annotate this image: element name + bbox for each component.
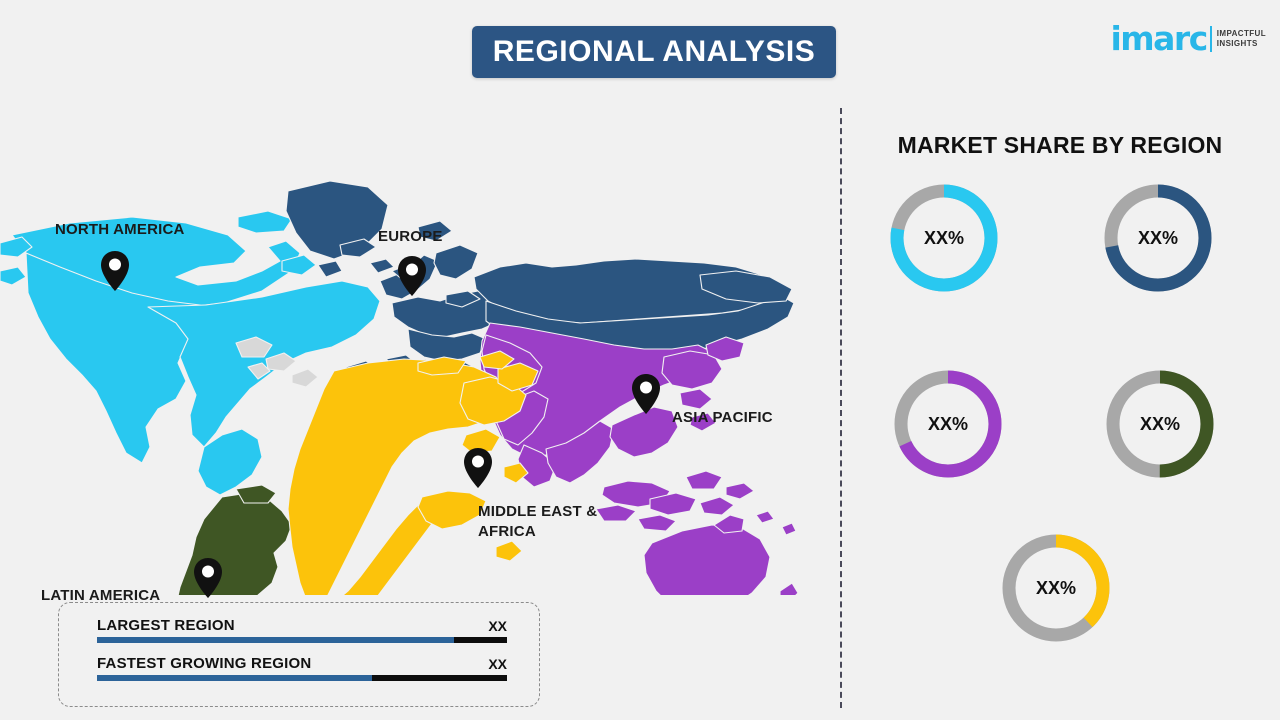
donut-ring: [888, 364, 1008, 484]
map-pin-asia-pacific[interactable]: [630, 373, 662, 415]
logo-tagline-line-2: INSIGHTS: [1217, 39, 1266, 48]
legend-progress-fill: [97, 637, 454, 643]
logo-wordmark: imarc: [1110, 22, 1206, 55]
donut-chart-europe[interactable]: XX%: [1098, 178, 1218, 298]
donut-ring: [1100, 364, 1220, 484]
map-pin-middle-east-africa[interactable]: [462, 447, 494, 489]
map-label-north-america: NORTH AMERICA: [55, 220, 185, 240]
donut-chart-middle-east-africa[interactable]: XX%: [996, 528, 1116, 648]
map-pin-latin-america[interactable]: [192, 557, 224, 599]
legend-box: LARGEST REGION XX FASTEST GROWING REGION…: [58, 602, 540, 707]
world-map-graphic: .ctry { stroke:#f1f1f1; stroke-width:1.1…: [0, 95, 830, 595]
logo-tagline: IMPACTFUL INSIGHTS: [1217, 29, 1266, 48]
donut-ring: [1098, 178, 1218, 298]
donut-ring: [996, 528, 1116, 648]
section-divider: [840, 108, 842, 708]
donut-chart-latin-america[interactable]: XX%: [1100, 364, 1220, 484]
map-label-europe: EUROPE: [378, 227, 443, 247]
page-title-banner: REGIONAL ANALYSIS: [472, 26, 836, 78]
logo-divider-bar: [1210, 26, 1212, 52]
world-map-panel: .ctry { stroke:#f1f1f1; stroke-width:1.1…: [0, 95, 830, 595]
map-region-middle-east-africa: [288, 351, 538, 595]
legend-label: FASTEST GROWING REGION: [97, 655, 311, 672]
legend-row-fastest-growing-region: FASTEST GROWING REGION XX: [97, 655, 507, 681]
legend-value: XX: [488, 618, 507, 634]
map-label-middle-east-africa: MIDDLE EAST & AFRICA: [478, 502, 618, 543]
logo-tagline-line-1: IMPACTFUL: [1217, 29, 1266, 38]
donut-ring: [884, 178, 1004, 298]
map-pin-europe[interactable]: [396, 255, 428, 297]
charts-section-title: MARKET SHARE BY REGION: [840, 132, 1280, 159]
map-pin-north-america[interactable]: [99, 250, 131, 292]
donut-chart-asia-pacific[interactable]: XX%: [888, 364, 1008, 484]
legend-progress-track: [97, 637, 507, 643]
donut-chart-north-america[interactable]: XX%: [884, 178, 1004, 298]
legend-progress-fill: [97, 675, 372, 681]
page-title: REGIONAL ANALYSIS: [493, 35, 815, 69]
map-region-asia-pacific: [480, 323, 798, 595]
imarc-logo: imarc IMPACTFUL INSIGHTS: [1110, 22, 1266, 55]
map-label-asia-pacific: ASIA PACIFIC: [672, 408, 773, 428]
legend-label: LARGEST REGION: [97, 617, 235, 634]
legend-row-largest-region: LARGEST REGION XX: [97, 617, 507, 643]
legend-progress-track: [97, 675, 507, 681]
legend-value: XX: [488, 656, 507, 672]
